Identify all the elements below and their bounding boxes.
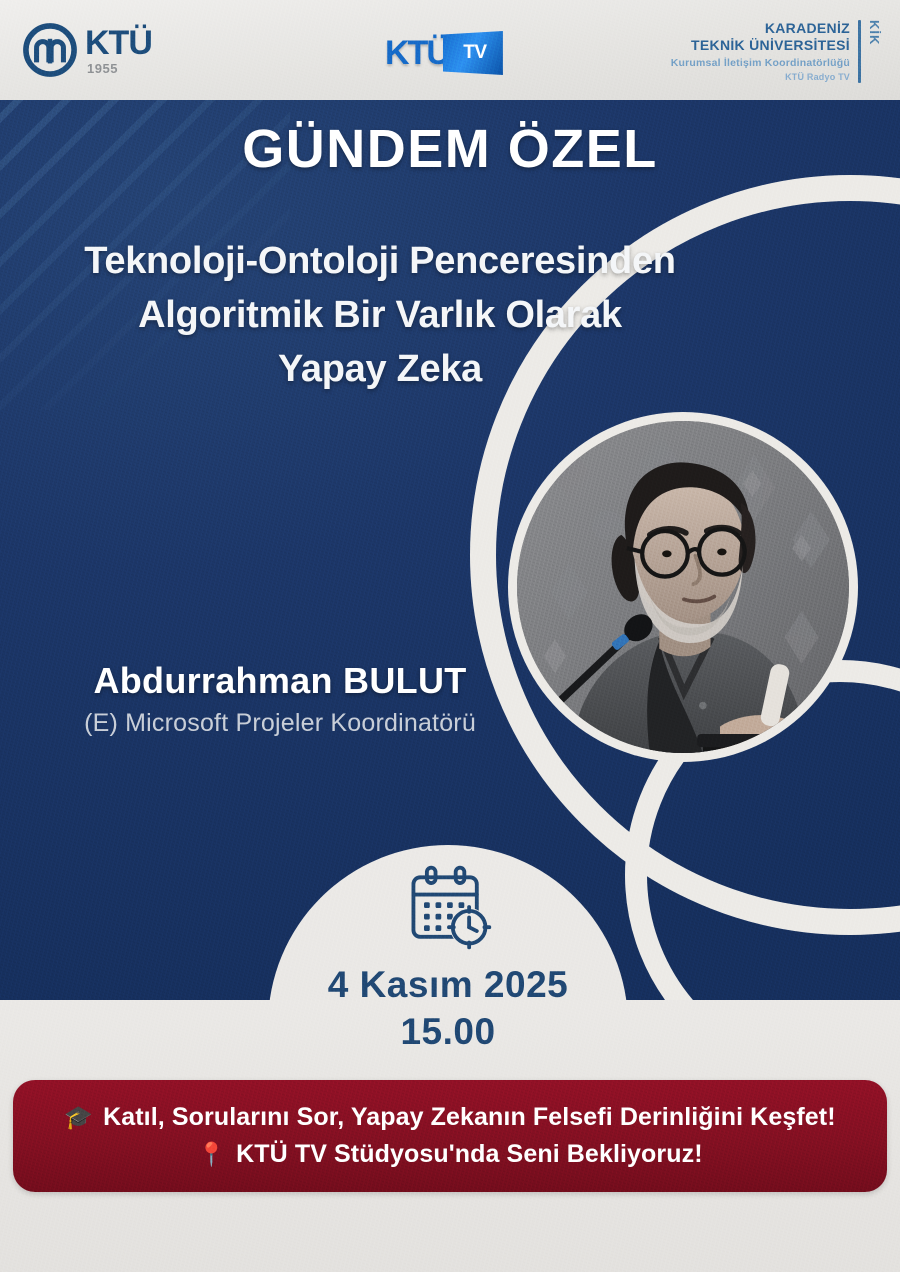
ktu-logo: KTÜ 1955 <box>22 22 152 78</box>
cta-line-1: 🎓 Katıl, Sorularını Sor, Yapay Zekanın F… <box>64 1103 835 1132</box>
event-datetime: 4 Kasım 2025 15.00 <box>268 860 628 1053</box>
calendar-clock-icon <box>268 860 628 956</box>
event-time: 15.00 <box>268 1011 628 1053</box>
ktu-year: 1955 <box>87 62 152 75</box>
cta-line-2: 📍 KTÜ TV Stüdyosu'nda Seni Bekliyoruz! <box>197 1140 702 1169</box>
ktu-wordmark: KTÜ <box>85 26 152 60</box>
program-title: GÜNDEM ÖZEL <box>0 118 900 180</box>
poster-header: KTÜ 1955 KTÜ TV KARADENİZ TEKNİK ÜNİVERS… <box>0 0 900 100</box>
call-to-action-banner: 🎓 Katıl, Sorularını Sor, Yapay Zekanın F… <box>13 1080 887 1192</box>
speaker-name: Abdurrahman BULUT <box>30 660 530 702</box>
speaker-photo <box>517 421 849 753</box>
cta-text-1: Katıl, Sorularını Sor, Yapay Zekanın Fel… <box>103 1103 836 1132</box>
ktutv-flag-icon: TV <box>443 31 503 75</box>
radio-tv-label: KTÜ Radyo TV <box>671 72 850 83</box>
cta-text-2: KTÜ TV Stüdyosu'nda Seni Bekliyoruz! <box>236 1140 703 1169</box>
speaker-photo-frame <box>508 412 858 762</box>
event-poster: KTÜ 1955 KTÜ TV KARADENİZ TEKNİK ÜNİVERS… <box>0 0 900 1272</box>
graduation-cap-icon: 🎓 <box>64 1106 93 1129</box>
university-name-line1: KARADENİZ <box>671 20 850 37</box>
headline-line-1: Teknoloji-Ontoloji Penceresinden <box>0 235 760 289</box>
speaker-info: Abdurrahman BULUT (E) Microsoft Projeler… <box>30 660 530 738</box>
headline-line-2: Algoritmik Bir Varlık Olarak <box>0 289 760 343</box>
coordination-office-label: Kurumsal İletişim Koordinatörlüğü <box>671 57 850 70</box>
session-headline: Teknoloji-Ontoloji Penceresinden Algorit… <box>0 235 760 397</box>
university-name-line2: TEKNİK ÜNİVERSİTESİ <box>671 37 850 54</box>
kik-divider <box>858 20 861 83</box>
ktu-emblem-icon <box>22 22 78 78</box>
headline-line-3: Yapay Zeka <box>0 343 760 397</box>
location-pin-icon: 📍 <box>197 1143 226 1166</box>
ktutv-flag-label: TV <box>463 42 486 64</box>
kik-abbreviation: KİK <box>867 20 882 83</box>
ktutv-wordmark: KTÜ <box>385 34 449 73</box>
speaker-role: (E) Microsoft Projeler Koordinatörü <box>30 709 530 738</box>
ktutv-logo: KTÜ TV <box>385 30 503 76</box>
event-date: 4 Kasım 2025 <box>268 964 628 1006</box>
kik-logo-block: KARADENİZ TEKNİK ÜNİVERSİTESİ Kurumsal İ… <box>671 20 882 83</box>
